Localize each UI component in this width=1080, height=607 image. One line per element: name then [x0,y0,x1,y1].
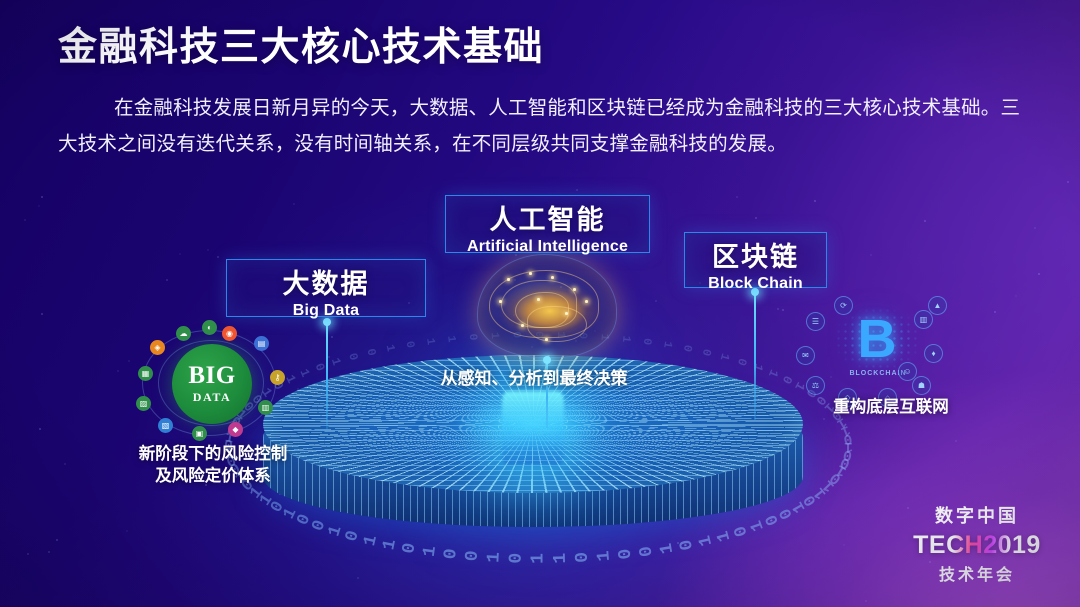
background-speck [357,577,359,579]
binary-digit: 1 [444,335,458,343]
cluster-node-icon: ◈ [150,340,165,355]
chain-node-icon: ☺ [898,362,917,381]
cluster-node-icon: ▤ [254,336,269,351]
cluster-node-icon: ▨ [136,396,151,411]
background-speck [27,553,29,555]
binary-digit: 0 [506,553,527,564]
binary-digit: 1 [528,553,548,564]
brain-spark [565,312,568,315]
background-speck [48,551,50,553]
caption-line: 及风险定价体系 [110,465,316,487]
binary-digit: 1 [838,422,852,440]
background-speck [955,440,957,442]
brain-spark [585,300,588,303]
page-title: 金融科技三大核心技术基础 [58,16,544,72]
chain-node-icon: ☰ [806,312,825,331]
background-speck [41,196,43,198]
pillar-caption-block-chain: 重构底层互联网 [796,396,986,418]
binary-digit: 0 [842,445,854,463]
background-speck [777,308,779,310]
binary-digit: 0 [572,551,593,563]
background-speck [814,200,816,202]
background-speck [39,428,41,430]
background-speck [207,249,209,251]
blockchain-icon-cluster: B BLOCKCHAIN ⟳ ☰ ✉ ⚖ ◇ ⌂ ☗ ♦ ▥ ▲ ☺ [800,300,950,404]
big-data-badge-secondary: DATA [193,390,232,405]
cluster-node-icon: ☁ [176,326,191,341]
background-speck [128,360,130,362]
connector-stem-block-chain [754,292,756,420]
brain-spark [507,278,510,281]
background-speck [870,254,872,256]
binary-digit: 1 [844,438,853,455]
binary-digit: 1 [833,460,850,480]
connector-dot [543,356,551,364]
binary-digit: 1 [423,337,437,346]
binary-digit: 0 [680,343,694,352]
background-speck [293,203,295,205]
background-speck [1034,227,1036,229]
background-speck [655,300,657,302]
pillar-caption-artificial-intelligence: 从感知、分析到最终决策 [416,367,652,390]
cluster-node-icon: ▣ [192,426,207,441]
brain-spark [529,272,532,275]
background-speck [179,253,181,255]
binary-digit: 1 [383,343,397,352]
connector-stem-big-data [326,322,328,430]
pillar-title-en: Big Data [243,302,409,320]
big-data-icon-cluster: BIG DATA ▦ ◈ ☁ ◉ ▤ ⚷ ▥ ◆ ▣ ▧ ▨ ◐ [136,326,288,442]
brain-illustration [477,254,617,358]
chain-node-icon: ▥ [914,310,933,329]
binary-digit: 0 [403,340,417,349]
pillar-card-big-data[interactable]: 大数据 Big Data [226,259,426,317]
background-speck [64,463,66,465]
brain-spark [521,324,524,327]
binary-digit: 1 [484,551,505,563]
binary-digit: 0 [640,337,654,346]
binary-digit: 0 [827,468,845,488]
background-speck [24,219,26,221]
brain-spark [499,300,502,303]
pillar-caption-big-data: 新阶段下的风险控制 及风险定价体系 [110,443,316,488]
chain-node-icon: ▲ [928,296,947,315]
chain-node-icon: ⟳ [834,296,853,315]
background-speck [843,544,845,546]
pillar-card-block-chain[interactable]: 区块链 Block Chain [684,232,827,288]
background-speck [166,279,168,281]
background-speck [1015,295,1017,297]
big-data-badge: BIG DATA [172,344,252,424]
pillar-title-cn: 区块链 [701,242,810,272]
binary-digit: 0 [615,548,636,561]
cluster-node-icon: ⚷ [270,370,285,385]
binary-digit: 1 [810,484,830,503]
pillar-title-cn: 大数据 [243,269,409,299]
background-speck [217,256,219,258]
background-speck [865,600,867,602]
blockchain-b-glyph: B [852,308,902,370]
binary-digit: 0 [838,453,853,472]
binary-digit: 0 [800,491,821,509]
cluster-node-icon: ◐ [202,320,217,335]
background-speck [41,313,43,315]
brain-spark [573,288,576,291]
cluster-node-icon: ◆ [228,422,243,437]
background-speck [1067,181,1069,183]
background-speck [736,196,738,198]
binary-digit: 1 [419,545,440,558]
background-speck [924,220,926,222]
background-speck [38,205,40,207]
background-speck [1038,273,1040,275]
cluster-node-icon: ▧ [158,418,173,433]
binary-digit: 0 [462,550,483,562]
logo-line-1: 数字中国 [904,502,1050,528]
pillar-title-cn: 人工智能 [462,205,633,235]
background-speck [331,336,333,338]
brain-fold [489,270,599,338]
background-speck [117,370,119,372]
background-speck [782,309,784,311]
binary-digit: 1 [660,340,674,349]
binary-digit: 1 [819,476,838,495]
big-data-badge-primary: BIG [188,363,235,388]
brain-spark [537,298,540,301]
binary-digit: 1 [594,550,615,562]
cluster-node-icon: ▦ [138,366,153,381]
event-logo: 数字中国 TECH2019 技术年会 [904,502,1050,585]
brain-spark [545,338,548,341]
logo-line-3: 技术年会 [904,561,1050,585]
background-speck [576,189,578,191]
background-speck [994,311,996,313]
background-speck [126,530,128,532]
background-speck [56,539,58,541]
logo-line-2: TECH2019 [904,531,1050,560]
pillar-card-artificial-intelligence[interactable]: 人工智能 Artificial Intelligence [445,195,650,253]
caption-line: 新阶段下的风险控制 [110,443,316,465]
cluster-node-icon: ◉ [222,326,237,341]
chain-node-icon: ♦ [924,344,943,363]
binary-digit: 1 [550,553,571,564]
pillar-title-en: Artificial Intelligence [462,238,633,256]
binary-digit: 0 [441,548,462,561]
binary-digit: 1 [619,335,633,343]
background-speck [629,551,631,553]
brain-spark [551,276,554,279]
disc-glowing-core [502,391,564,465]
body-paragraph: 在金融科技发展日新月异的今天，大数据、人工智能和区块链已经成为金融科技的三大核心… [58,90,1026,162]
binary-digit: 0 [636,545,657,558]
background-speck [755,217,757,219]
chain-node-icon: ⚖ [806,376,825,395]
pillar-title-en: Block Chain [701,275,810,293]
chain-node-icon: ✉ [796,346,815,365]
chain-node-icon: ☗ [912,376,931,395]
presentation-slide: 金融科技三大核心技术基础 在金融科技发展日新月异的今天，大数据、人工智能和区块链… [0,0,1080,607]
binary-digit: 0 [842,430,854,448]
cluster-node-icon: ▥ [258,400,273,415]
